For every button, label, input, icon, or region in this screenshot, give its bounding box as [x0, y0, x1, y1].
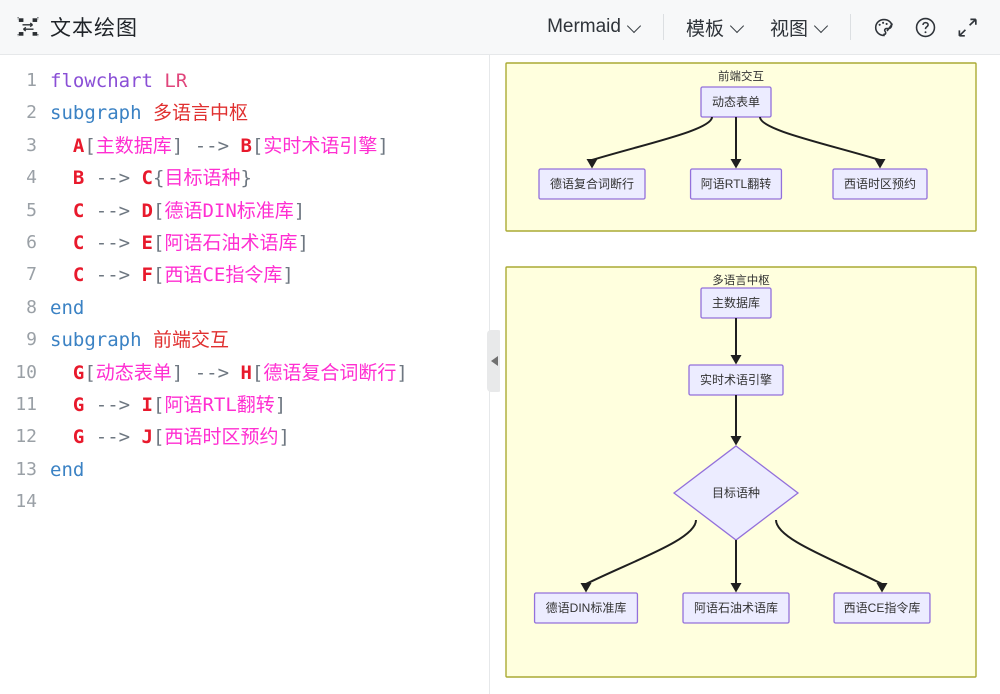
code-token: 西语时区预约	[164, 426, 278, 448]
line-number: 7	[4, 259, 50, 291]
diagram-flow-icon	[16, 15, 40, 39]
code-line-content[interactable]: C --> E[阿语石油术语库]	[50, 227, 489, 259]
code-token: [	[153, 394, 164, 416]
node-A[interactable]: 主数据库	[701, 288, 771, 318]
code-line-content[interactable]: G --> I[阿语RTL翻转]	[50, 389, 489, 421]
line-number: 6	[4, 227, 50, 259]
code-token: C	[73, 264, 84, 286]
code-line[interactable]: 12 G --> J[西语时区预约]	[0, 421, 489, 453]
node-label: 德语复合词断行	[550, 176, 634, 191]
node-label: 西语CE指令库	[844, 600, 921, 615]
code-token	[153, 70, 164, 92]
code-editor-pane[interactable]: 1flowchart LR2subgraph 多语言中枢3 A[主数据库] --…	[0, 55, 489, 694]
code-line[interactable]: 8end	[0, 292, 489, 324]
code-line-content[interactable]: C --> F[西语CE指令库]	[50, 259, 489, 291]
code-token: 多语言中枢	[153, 102, 248, 124]
line-number: 13	[4, 454, 50, 486]
code-line-content[interactable]: G --> J[西语时区预约]	[50, 421, 489, 453]
page-title: 文本绘图	[50, 12, 138, 42]
code-line[interactable]: 4 B --> C{目标语种}	[0, 162, 489, 194]
code-line[interactable]: 13end	[0, 454, 489, 486]
code-line-content[interactable]: subgraph 多语言中枢	[50, 97, 489, 129]
code-token: ]	[377, 135, 388, 157]
code-token	[50, 135, 73, 157]
line-number: 8	[4, 292, 50, 324]
workspace: 1flowchart LR2subgraph 多语言中枢3 A[主数据库] --…	[0, 55, 1000, 694]
code-token: [	[252, 362, 263, 384]
code-token: -->	[84, 264, 141, 286]
line-number: 3	[4, 130, 50, 162]
code-token: -->	[183, 362, 240, 384]
code-token: end	[50, 459, 84, 481]
code-token: 阿语RTL翻转	[164, 394, 274, 416]
chevron-left-icon	[491, 356, 498, 366]
node-label: 德语DIN标准库	[546, 600, 627, 615]
code-token: B	[240, 135, 251, 157]
line-number: 9	[4, 324, 50, 356]
code-token: J	[142, 426, 153, 448]
code-line-content[interactable]: B --> C{目标语种}	[50, 162, 489, 194]
code-token: -->	[84, 232, 141, 254]
code-line[interactable]: 1flowchart LR	[0, 65, 489, 97]
node-label: 主数据库	[712, 295, 760, 310]
line-number: 4	[4, 162, 50, 194]
line-number: 5	[4, 195, 50, 227]
palette-icon[interactable]	[864, 8, 902, 46]
code-token: ]	[278, 426, 289, 448]
code-token: ]	[297, 232, 308, 254]
engine-dropdown-label: Mermaid	[547, 16, 621, 38]
code-line[interactable]: 14	[0, 486, 489, 518]
code-token	[142, 102, 153, 124]
code-token: -->	[84, 167, 141, 189]
line-number: 14	[4, 486, 50, 518]
view-dropdown-label: 视图	[770, 14, 808, 41]
code-line[interactable]: 10 G[动态表单] --> H[德语复合词断行]	[0, 357, 489, 389]
code-line-content[interactable]: C --> D[德语DIN标准库]	[50, 195, 489, 227]
code-token: -->	[183, 135, 240, 157]
code-token: -->	[84, 200, 141, 222]
code-token: [	[252, 135, 263, 157]
code-line-content[interactable]: subgraph 前端交互	[50, 324, 489, 356]
code-line[interactable]: 9subgraph 前端交互	[0, 324, 489, 356]
line-number: 2	[4, 97, 50, 129]
code-token: ]	[172, 362, 183, 384]
code-token: 前端交互	[153, 329, 229, 351]
mermaid-diagram: 前端交互动态表单德语复合词断行阿语RTL翻转西语时区预约多语言中枢主数据库实时术…	[500, 55, 1000, 694]
pane-divider[interactable]	[489, 55, 500, 694]
code-token: 动态表单	[96, 362, 172, 384]
text-to-diagram-app: 文本绘图 Mermaid 模板 视图	[0, 0, 1000, 694]
view-dropdown[interactable]: 视图	[757, 9, 841, 46]
code-token: flowchart	[50, 70, 153, 92]
code-token: ]	[294, 200, 305, 222]
code-token: [	[153, 264, 164, 286]
code-token: G	[73, 362, 84, 384]
toolbar: Mermaid 模板 视图	[534, 8, 986, 46]
toolbar-divider-1	[663, 14, 664, 40]
node-G[interactable]: 动态表单	[701, 87, 771, 117]
code-token: 实时术语引擎	[263, 135, 377, 157]
code-token: G	[73, 394, 84, 416]
code-line-content[interactable]: end	[50, 454, 489, 486]
chevron-down-icon	[815, 20, 828, 33]
code-token	[142, 329, 153, 351]
code-line[interactable]: 7 C --> F[西语CE指令库]	[0, 259, 489, 291]
code-line[interactable]: 11 G --> I[阿语RTL翻转]	[0, 389, 489, 421]
code-token: [	[153, 232, 164, 254]
code-line-content[interactable]: A[主数据库] --> B[实时术语引擎]	[50, 130, 489, 162]
node-label: 目标语种	[712, 486, 760, 500]
code-token: I	[142, 394, 153, 416]
code-token: B	[73, 167, 84, 189]
code-token: H	[240, 362, 251, 384]
subgraph-title: 多语言中枢	[712, 273, 770, 287]
code-token	[50, 394, 73, 416]
chevron-down-icon	[731, 20, 744, 33]
code-token: [	[84, 362, 95, 384]
code-token	[50, 362, 73, 384]
code-line[interactable]: 2subgraph 多语言中枢	[0, 97, 489, 129]
code-token: C	[142, 167, 153, 189]
chevron-down-icon	[628, 20, 641, 33]
code-token: 德语DIN标准库	[164, 200, 293, 222]
node-label: 西语时区预约	[844, 176, 916, 191]
code-token: }	[240, 167, 251, 189]
code-line[interactable]: 5 C --> D[德语DIN标准库]	[0, 195, 489, 227]
code-token: 主数据库	[96, 135, 172, 157]
node-B[interactable]: 实时术语引擎	[689, 365, 783, 395]
code-token: A	[73, 135, 84, 157]
toolbar-divider-2	[850, 14, 851, 40]
fullscreen-expand-icon[interactable]	[948, 8, 986, 46]
code-token: {	[153, 167, 164, 189]
code-token: subgraph	[50, 102, 142, 124]
code-line[interactable]: 3 A[主数据库] --> B[实时术语引擎]	[0, 130, 489, 162]
template-dropdown[interactable]: 模板	[673, 9, 757, 46]
diagram-preview-pane[interactable]: 前端交互动态表单德语复合词断行阿语RTL翻转西语时区预约多语言中枢主数据库实时术…	[500, 55, 1000, 694]
code-token: 西语CE指令库	[164, 264, 282, 286]
code-line-content[interactable]: G[动态表单] --> H[德语复合词断行]	[50, 357, 489, 389]
code-token: end	[50, 297, 84, 319]
code-token	[50, 200, 73, 222]
code-token: E	[142, 232, 153, 254]
node-label: 动态表单	[712, 95, 760, 109]
code-token	[50, 167, 73, 189]
code-token: 德语复合词断行	[263, 362, 396, 384]
node-F[interactable]: 西语CE指令库	[834, 593, 930, 623]
code-line-content[interactable]: flowchart LR	[50, 65, 489, 97]
code-token	[50, 232, 73, 254]
line-number: 11	[4, 389, 50, 421]
question-circle-icon[interactable]	[906, 8, 944, 46]
code-token: [	[84, 135, 95, 157]
code-token: subgraph	[50, 329, 142, 351]
line-number: 12	[4, 421, 50, 453]
node-label: 实时术语引擎	[700, 372, 772, 387]
code-token: [	[153, 200, 164, 222]
code-token: F	[142, 264, 153, 286]
code-token: 阿语石油术语库	[164, 232, 297, 254]
code-token: ]	[172, 135, 183, 157]
node-E[interactable]: 阿语石油术语库	[683, 593, 789, 623]
code-editor-lines[interactable]: 1flowchart LR2subgraph 多语言中枢3 A[主数据库] --…	[0, 65, 489, 519]
subgraph-title: 前端交互	[718, 69, 764, 83]
node-D[interactable]: 德语DIN标准库	[535, 593, 638, 623]
code-token: ]	[275, 394, 286, 416]
code-line[interactable]: 6 C --> E[阿语石油术语库]	[0, 227, 489, 259]
line-number: 1	[4, 65, 50, 97]
engine-dropdown[interactable]: Mermaid	[534, 11, 654, 43]
node-H[interactable]: 德语复合词断行	[539, 169, 645, 199]
code-token: [	[153, 426, 164, 448]
brand: 文本绘图	[16, 12, 138, 42]
code-token: ]	[396, 362, 407, 384]
code-token: 目标语种	[164, 167, 240, 189]
code-token	[50, 426, 73, 448]
code-token: ]	[282, 264, 293, 286]
code-token: D	[142, 200, 153, 222]
node-J[interactable]: 西语时区预约	[833, 169, 927, 199]
template-dropdown-label: 模板	[686, 14, 724, 41]
code-token: -->	[84, 394, 141, 416]
app-header: 文本绘图 Mermaid 模板 视图	[0, 0, 1000, 55]
code-token: G	[73, 426, 84, 448]
code-token: LR	[164, 70, 187, 92]
code-token	[50, 264, 73, 286]
node-label: 阿语石油术语库	[694, 600, 778, 615]
code-token: -->	[84, 426, 141, 448]
node-label: 阿语RTL翻转	[701, 176, 771, 191]
code-token: C	[73, 232, 84, 254]
node-I[interactable]: 阿语RTL翻转	[691, 169, 782, 199]
code-token: C	[73, 200, 84, 222]
code-line-content[interactable]: end	[50, 292, 489, 324]
line-number: 10	[4, 357, 50, 389]
